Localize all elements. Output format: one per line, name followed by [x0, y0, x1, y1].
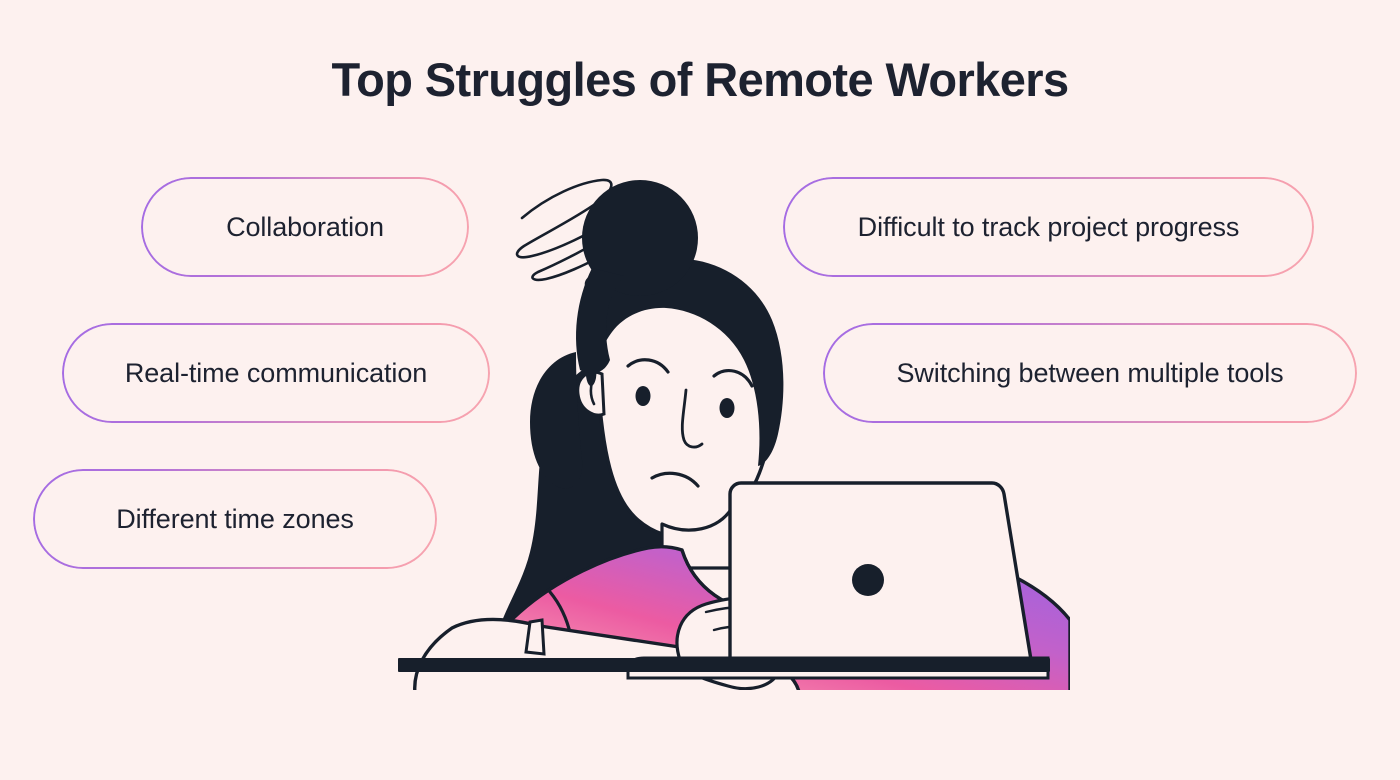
pill-label: Different time zones — [116, 504, 354, 535]
illustration-remote-worker — [380, 160, 1070, 690]
sleeve-hem — [526, 620, 544, 654]
laptop-logo-dot — [852, 564, 884, 596]
eye-left — [636, 386, 651, 406]
eye-right — [720, 398, 735, 418]
pill-different-time-zones[interactable]: Different time zones — [33, 469, 437, 569]
pill-label: Collaboration — [226, 212, 384, 243]
desk-line — [398, 658, 1050, 672]
hair-side-lock — [530, 352, 582, 488]
page-title: Top Struggles of Remote Workers — [0, 52, 1400, 107]
infographic-canvas: Top Struggles of Remote Workers Collabor… — [0, 0, 1400, 780]
